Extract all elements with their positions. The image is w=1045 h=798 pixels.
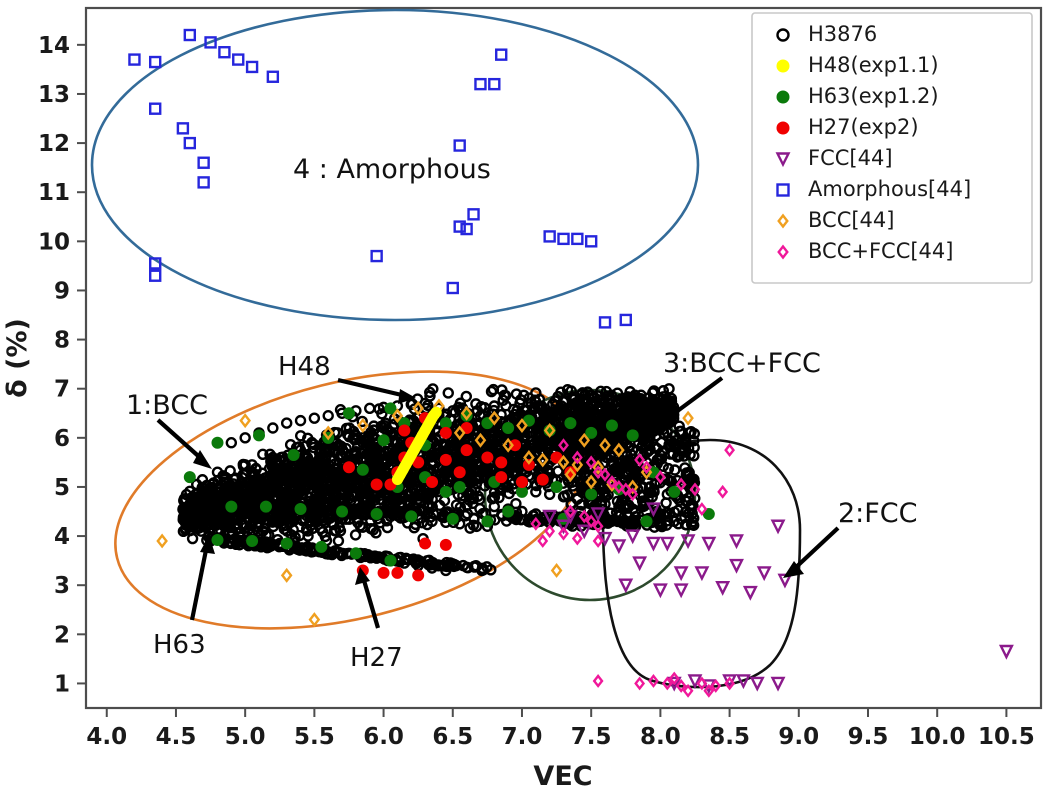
x-tick-label: 5.0 <box>225 724 266 750</box>
data-point-bcc-44- <box>282 570 291 581</box>
data-point-h63-exp1-2- <box>551 481 562 492</box>
data-point-h63-exp1-2- <box>503 506 514 517</box>
data-point-fcc-44- <box>655 585 666 596</box>
data-point-h27-exp2- <box>392 567 403 578</box>
data-point-fcc-44- <box>717 582 728 593</box>
data-point-h27-exp2- <box>516 477 527 488</box>
data-point-h63-exp1-2- <box>586 427 597 438</box>
data-point-fcc-44- <box>773 678 784 689</box>
data-point-h63-exp1-2- <box>254 430 265 441</box>
y-tick-label: 11 <box>38 180 70 206</box>
data-point-h63-exp1-2- <box>565 418 576 429</box>
data-point-h3876 <box>324 411 333 420</box>
data-point-h27-exp2- <box>440 454 451 465</box>
data-point-amorphous-44- <box>219 47 229 57</box>
data-point-amorphous-44- <box>268 72 278 82</box>
data-point-h27-exp2- <box>378 567 389 578</box>
data-point-h3876 <box>227 438 236 447</box>
data-point-amorphous-44- <box>586 236 596 246</box>
data-point-fcc-44- <box>620 580 631 591</box>
data-point-amorphous-44- <box>199 177 209 187</box>
point-label-h63: H63 <box>153 630 206 660</box>
data-point-h63-exp1-2- <box>385 555 396 566</box>
data-point-fcc-44- <box>613 540 624 551</box>
data-point-h63-exp1-2- <box>641 516 652 527</box>
data-point-amorphous-44- <box>469 209 479 219</box>
data-point-h63-exp1-2- <box>357 464 368 475</box>
data-point-h27-exp2- <box>343 462 354 473</box>
data-point-h63-exp1-2- <box>586 489 597 500</box>
data-point-h3876 <box>334 536 343 545</box>
data-point-h3876 <box>296 416 305 425</box>
data-point-bcc-fcc-44- <box>539 536 547 546</box>
data-point-h63-exp1-2- <box>295 504 306 515</box>
region-label-amorphous: 4 : Amorphous <box>293 154 491 185</box>
data-point-h63-exp1-2- <box>281 538 292 549</box>
data-point-h3876 <box>310 414 319 423</box>
y-tick-label: 4 <box>54 524 70 550</box>
data-point-h63-exp1-2- <box>226 501 237 512</box>
data-point-h3876 <box>365 404 374 413</box>
data-point-bcc-44- <box>552 565 561 576</box>
data-point-fcc-44- <box>731 535 742 546</box>
data-point-h27-exp2- <box>496 472 507 483</box>
y-tick-label: 10 <box>38 229 70 255</box>
data-point-h27-exp2- <box>482 452 493 463</box>
data-point-amorphous-44- <box>233 55 243 65</box>
data-point-amorphous-44- <box>178 123 188 133</box>
data-point-h3876 <box>444 388 453 397</box>
data-point-h63-exp1-2- <box>606 420 617 431</box>
data-point-fcc-44- <box>759 567 770 578</box>
data-point-fcc-44- <box>634 558 645 569</box>
data-point-amorphous-44- <box>150 57 160 67</box>
data-point-h3876 <box>351 530 360 539</box>
data-point-h27-exp2- <box>371 479 382 490</box>
legend-label-h63-exp1-2-: H63(exp1.2) <box>808 84 939 108</box>
legend-label-h27-exp2-: H27(exp2) <box>808 115 919 139</box>
x-tick-label: 10.5 <box>978 724 1035 750</box>
y-tick-label: 8 <box>54 328 70 354</box>
arrow-line-h27 <box>363 577 378 628</box>
data-point-fcc-44- <box>627 531 638 542</box>
point-label-h27: H27 <box>350 643 403 673</box>
data-point-amorphous-44- <box>572 234 582 244</box>
data-point-h63-exp1-2- <box>212 437 223 448</box>
data-point-fcc-44- <box>731 560 742 571</box>
legend-label-amorphous-44-: Amorphous[44] <box>808 177 971 201</box>
data-point-h27-exp2- <box>420 538 431 549</box>
data-point-h63-exp1-2- <box>371 508 382 519</box>
y-tick-label: 13 <box>38 82 70 108</box>
region-label-bcc-fcc: 3:BCC+FCC <box>663 348 821 379</box>
y-tick-label: 9 <box>54 278 70 304</box>
data-point-amorphous-44- <box>475 79 485 89</box>
data-point-h27-exp2- <box>496 457 507 468</box>
legend-marker-h63-exp1-2- <box>777 91 789 103</box>
legend-marker-h27-exp2- <box>777 122 789 134</box>
data-point-h27-exp2- <box>461 445 472 456</box>
data-point-h27-exp2- <box>454 467 465 478</box>
legend-label-h48-exp1-1-: H48(exp1.1) <box>808 53 939 77</box>
data-point-bcc-fcc-44- <box>594 676 602 686</box>
data-point-amorphous-44- <box>150 104 160 114</box>
data-point-fcc-44- <box>773 521 784 532</box>
data-point-h3876 <box>268 424 277 433</box>
data-point-h63-exp1-2- <box>482 516 493 527</box>
y-tick-label: 12 <box>38 131 70 157</box>
data-point-bcc-fcc-44- <box>636 678 644 688</box>
data-point-amorphous-44- <box>600 317 610 327</box>
x-tick-label: 5.5 <box>294 724 335 750</box>
legend-label-fcc-44-: FCC[44] <box>808 146 893 170</box>
y-tick-label: 6 <box>54 426 70 452</box>
data-point-fcc-44- <box>752 678 763 689</box>
data-point-h63-exp1-2- <box>669 486 680 497</box>
data-point-fcc-44- <box>676 585 687 596</box>
data-point-amorphous-44- <box>559 234 569 244</box>
legend: H3876H48(exp1.1)H63(exp1.2)H27(exp2)FCC[… <box>752 13 1032 283</box>
data-point-fcc-44- <box>648 538 659 549</box>
data-point-h63-exp1-2- <box>440 486 451 497</box>
data-point-h27-exp2- <box>440 539 451 550</box>
data-point-amorphous-44- <box>185 30 195 40</box>
data-point-h63-exp1-2- <box>337 506 348 517</box>
legend-label-bcc-44-: BCC[44] <box>808 208 894 232</box>
data-point-h27-exp2- <box>440 427 451 438</box>
data-point-h27-exp2- <box>399 425 410 436</box>
y-tick-label: 3 <box>54 573 70 599</box>
data-point-h63-exp1-2- <box>627 430 638 441</box>
arrow-line-h48 <box>338 380 406 396</box>
data-point-amorphous-44- <box>129 55 139 65</box>
data-point-h63-exp1-2- <box>247 535 258 546</box>
data-point-bcc-44- <box>158 535 167 546</box>
y-axis-ticks: 1234567891011121314 <box>38 33 86 698</box>
data-point-fcc-44- <box>703 538 714 549</box>
data-point-fcc-44- <box>1001 646 1012 657</box>
legend-label-h3876: H3876 <box>808 22 877 46</box>
data-point-fcc-44- <box>676 567 687 578</box>
data-point-amorphous-44- <box>448 283 458 293</box>
data-point-h63-exp1-2- <box>260 501 271 512</box>
data-point-h63-exp1-2- <box>316 541 327 552</box>
x-tick-label: 4.5 <box>156 724 197 750</box>
data-point-h63-exp1-2- <box>288 450 299 461</box>
data-point-fcc-44- <box>662 538 673 549</box>
data-point-h63-exp1-2- <box>385 403 396 414</box>
x-tick-label: 8.5 <box>709 724 750 750</box>
y-axis-title: δ (%) <box>2 318 33 398</box>
data-point-h3876 <box>282 419 291 428</box>
data-point-bcc-fcc-44- <box>719 487 727 497</box>
scatter-plot-figure: 4.04.55.05.56.06.57.07.58.08.59.09.510.0… <box>0 0 1045 798</box>
x-tick-label: 7.5 <box>571 724 612 750</box>
y-tick-label: 14 <box>38 33 70 59</box>
data-point-fcc-44- <box>696 567 707 578</box>
data-point-amorphous-44- <box>489 79 499 89</box>
y-tick-label: 2 <box>54 622 70 648</box>
x-tick-label: 7.0 <box>502 724 543 750</box>
x-tick-label: 9.0 <box>778 724 819 750</box>
legend-label-bcc-fcc-44-: BCC+FCC[44] <box>808 239 953 263</box>
data-point-h27-exp2- <box>537 474 548 485</box>
data-point-h63-exp1-2- <box>454 481 465 492</box>
x-axis-title: VEC <box>533 761 592 792</box>
data-point-amorphous-44- <box>545 231 555 241</box>
region-label-fcc: 2:FCC <box>838 498 918 529</box>
data-point-h63-exp1-2- <box>503 423 514 434</box>
data-point-h27-exp2- <box>427 477 438 488</box>
plot-canvas: 4.04.55.05.56.06.57.07.58.08.59.09.510.0… <box>0 0 1045 798</box>
data-point-amorphous-44- <box>455 141 465 151</box>
data-point-h63-exp1-2- <box>447 513 458 524</box>
data-point-amorphous-44- <box>150 271 160 281</box>
data-point-bcc-44- <box>684 413 693 424</box>
y-tick-label: 1 <box>54 671 70 697</box>
data-point-fcc-44- <box>683 535 694 546</box>
data-point-amorphous-44- <box>185 138 195 148</box>
data-point-fcc-44- <box>745 587 756 598</box>
x-tick-label: 10.0 <box>909 724 966 750</box>
legend-marker-h48-exp1-1- <box>777 60 789 72</box>
data-point-amorphous-44- <box>621 315 631 325</box>
data-point-h27-exp2- <box>413 570 424 581</box>
data-point-bcc-44- <box>241 415 250 426</box>
y-tick-label: 7 <box>54 377 70 403</box>
data-point-bcc-44- <box>310 614 319 625</box>
x-tick-label: 8.0 <box>640 724 681 750</box>
x-axis-ticks: 4.04.55.05.56.06.57.07.58.08.59.09.510.0… <box>86 708 1034 750</box>
data-point-amorphous-44- <box>372 251 382 261</box>
point-label-h48: H48 <box>278 352 331 382</box>
region-label-bcc: 1:BCC <box>126 390 208 421</box>
data-point-h63-exp1-2- <box>212 535 223 546</box>
data-point-h63-exp1-2- <box>184 472 195 483</box>
x-tick-label: 6.0 <box>363 724 404 750</box>
y-tick-label: 5 <box>54 475 70 501</box>
data-point-h63-exp1-2- <box>343 408 354 419</box>
data-point-bcc-fcc-44- <box>726 445 734 455</box>
x-tick-label: 9.5 <box>848 724 889 750</box>
data-point-bcc-fcc-44- <box>573 534 581 544</box>
x-tick-label: 4.0 <box>86 724 127 750</box>
data-point-h63-exp1-2- <box>378 435 389 446</box>
data-point-h63-exp1-2- <box>406 511 417 522</box>
data-point-amorphous-44- <box>496 50 506 60</box>
data-point-amorphous-44- <box>199 158 209 168</box>
x-tick-label: 6.5 <box>432 724 473 750</box>
data-point-h63-exp1-2- <box>350 548 361 559</box>
arrow-line-h63 <box>192 545 207 620</box>
data-point-h3876 <box>241 433 250 442</box>
data-point-amorphous-44- <box>247 62 257 72</box>
